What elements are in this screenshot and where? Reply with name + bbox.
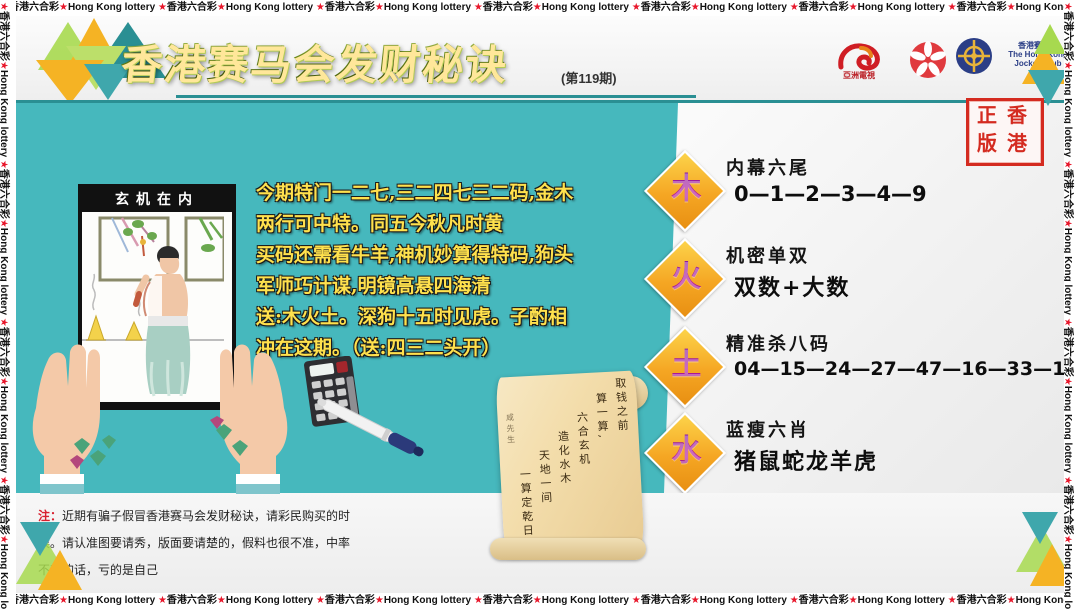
deco-triangle-bottom-2 xyxy=(38,550,82,590)
prediction-value: 猪鼠蛇龙羊虎 xyxy=(734,444,878,476)
issue-number: (第119期) xyxy=(561,68,617,87)
stamp-char-top-right: 香 xyxy=(1007,105,1027,125)
prediction-label: 精准杀八码 xyxy=(726,330,831,356)
prediction-label: 内幕六尾 xyxy=(726,154,810,180)
illustration-frame: 玄机在内 xyxy=(78,184,236,410)
illustration-title: 玄机在内 xyxy=(82,188,232,212)
scroll-line: 六合玄机 xyxy=(576,411,590,467)
scroll-line: 造化水木 xyxy=(557,430,571,486)
scroll-signature: 咸先生 xyxy=(505,413,515,446)
deco-triangle-top-right-3 xyxy=(1034,24,1064,54)
element-char: 水 xyxy=(659,427,713,477)
fortune-poem: 今期特门一二七,三二四七三二码,金木 两行可中特。同五今秋凡时黄 买码还需看牛羊… xyxy=(256,178,686,364)
header-rule-short xyxy=(176,95,696,98)
prediction-label: 蓝瘦六肖 xyxy=(726,416,810,442)
poster-root: ★香港六合彩★Hong Kong lottery ★香港六合彩★Hong Kon… xyxy=(0,0,1080,609)
note-line-text: 近期有骗子假冒香港赛马会发财秘诀，请彩民购买的时 xyxy=(62,509,350,523)
hkjc-logo xyxy=(954,36,994,81)
stamp-char-top-left: 正 xyxy=(977,105,997,125)
stamp-char-bottom-right: 港 xyxy=(1007,133,1027,153)
stamp-char-bottom-left: 版 xyxy=(977,133,997,153)
page-title: 香港赛马会发财秘诀 xyxy=(118,30,511,90)
authenticity-stamp: 香 港 正 版 xyxy=(966,98,1044,166)
xuanji-illustration xyxy=(82,212,224,402)
note-line: 不高的话，亏的是自己 xyxy=(38,557,458,584)
marquee-left-text: ★香港六合彩★Hong Kong lottery ★香港六合彩★Hong Kon… xyxy=(0,2,13,609)
scroll-line: 算一算, xyxy=(595,392,609,441)
scroll-text: 取钱之前 算一算, 六合玄机 造化水木 天地一间 一算定乾日 咸先生 xyxy=(508,377,637,553)
scroll-line: 天地一间 xyxy=(538,449,552,505)
scroll-line: 一算定乾日 xyxy=(519,468,534,538)
gems-right xyxy=(206,416,266,466)
hongkong-bauhinia-logo xyxy=(906,38,950,87)
scroll-roll-bottom xyxy=(490,538,646,560)
deco-triangle-bottom-5 xyxy=(1030,544,1064,586)
marquee-top-text: ★香港六合彩★Hong Kong lottery ★香港六合彩★Hong Kon… xyxy=(0,2,1080,13)
prediction-row-fire: 火 机密单双 双数+大数 xyxy=(656,234,1056,320)
fortune-scroll: 取钱之前 算一算, 六合玄机 造化水木 天地一间 一算定乾日 咸先生 xyxy=(488,368,658,568)
marquee-bottom-text: ★香港六合彩★Hong Kong lottery ★香港六合彩★Hong Kon… xyxy=(0,595,1080,606)
atv-logo: 亞洲電視 xyxy=(828,42,890,81)
note-line: 注：近期有骗子假冒香港赛马会发财秘诀，请彩民购买的时 xyxy=(38,503,458,530)
gems-left xyxy=(68,434,128,474)
deco-triangle-bottom-6 xyxy=(1022,512,1058,544)
poster-canvas: 香港赛马会发财秘诀 (第119期) 亞洲電視 xyxy=(16,16,1064,593)
disclaimer-text: 注：近期有骗子假冒香港赛马会发财秘诀，请彩民购买的时 候。请认准图要请秀，版面要… xyxy=(38,503,458,584)
marquee-border-right: ★香港六合彩★Hong Kong lottery ★香港六合彩★Hong Kon… xyxy=(1064,0,1080,609)
header-band: 香港赛马会发财秘诀 (第119期) 亞洲電視 xyxy=(16,16,1064,102)
note-label: 注： xyxy=(38,509,62,523)
poem-line: 今期特门一二七,三二四七三二码,金木 xyxy=(256,178,686,209)
marquee-border-top: ★香港六合彩★Hong Kong lottery ★香港六合彩★Hong Kon… xyxy=(0,0,1080,16)
marquee-border-bottom: ★香港六合彩★Hong Kong lottery ★香港六合彩★Hong Kon… xyxy=(0,593,1080,609)
poem-line: 军师巧计谋,明镜高悬四海清 xyxy=(256,271,686,302)
marquee-border-left: ★香港六合彩★Hong Kong lottery ★香港六合彩★Hong Kon… xyxy=(0,0,16,609)
illustration-body xyxy=(82,212,232,402)
prediction-label: 机密单双 xyxy=(726,242,810,268)
prediction-value: 0—1—2—3—4—9 xyxy=(734,182,927,206)
poem-line: 买码还需看牛羊,神机妙算得特码,狗头 xyxy=(256,240,686,271)
marquee-right-text: ★香港六合彩★Hong Kong lottery ★香港六合彩★Hong Kon… xyxy=(1064,2,1077,609)
note-line: 候。请认准图要请秀，版面要请楚的，假料也很不准，中率 xyxy=(38,530,458,557)
pen-icon xyxy=(310,396,440,466)
prediction-row-earth: 土 精准杀八码 04—15—24—27—47—16—33—17 xyxy=(656,322,1056,408)
prediction-value: 04—15—24—27—47—16—33—17 xyxy=(734,358,1064,380)
deco-triangle-bottom-3 xyxy=(20,522,60,556)
right-hand xyxy=(220,316,294,494)
atv-logo-caption: 亞洲電視 xyxy=(828,72,890,81)
prediction-value: 双数+大数 xyxy=(734,270,850,302)
scroll-line: 取钱之前 xyxy=(614,377,628,433)
prediction-row-water: 水 蓝瘦六肖 猪鼠蛇龙羊虎 xyxy=(656,408,1056,494)
poem-line: 送:木火土。深狗十五时见虎。子酌相 xyxy=(256,302,686,333)
poem-line: 两行可中特。同五今秋凡时黄 xyxy=(256,209,686,240)
